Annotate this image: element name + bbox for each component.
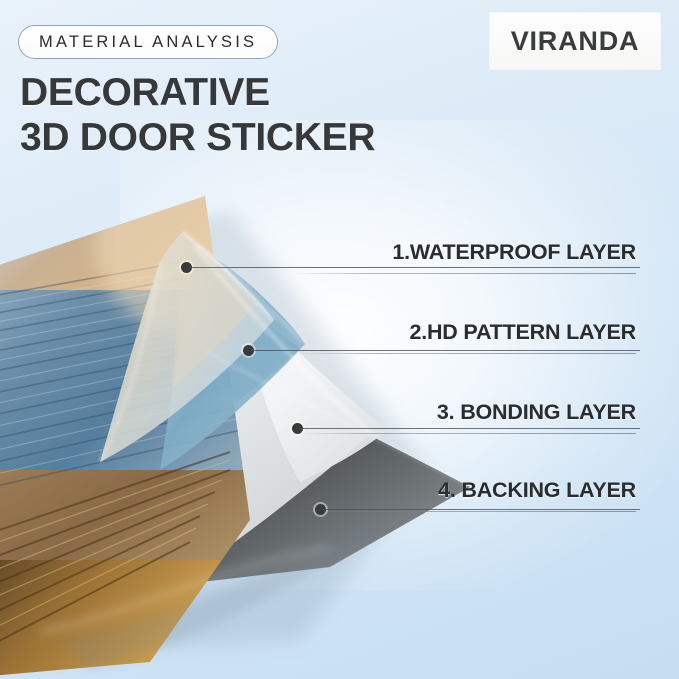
title-line-1: DECORATIVE — [20, 71, 270, 114]
callout-leader-1 — [189, 267, 640, 268]
callout-leader-4 — [323, 509, 640, 510]
callout-rule-4 — [291, 511, 636, 512]
callout-label-3: 3. BONDING LAYER — [437, 400, 636, 425]
callout-leader-2 — [251, 350, 640, 351]
page-title: DECORATIVE 3D DOOR STICKER — [20, 70, 375, 160]
material-analysis-badge: MATERIAL ANALYSIS — [18, 25, 278, 59]
title-line-2: 3D DOOR STICKER — [20, 115, 375, 160]
material-analysis-infographic: MATERIAL ANALYSIS DECORATIVE 3D DOOR STI… — [0, 0, 679, 679]
callout-leader-3 — [300, 428, 640, 429]
callout-label-2: 2.HD PATTERN LAYER — [409, 320, 636, 345]
brand-logo-plate: VIRANDA — [490, 13, 660, 69]
callout-rule-3 — [291, 433, 636, 434]
callout-rule-2 — [291, 353, 636, 354]
callout-label-4: 4. BACKING LAYER — [438, 478, 636, 503]
badge-label: MATERIAL ANALYSIS — [39, 33, 257, 52]
brand-name: VIRANDA — [511, 26, 640, 57]
callout-rule-1 — [291, 273, 636, 274]
callout-label-1: 1.WATERPROOF LAYER — [392, 240, 636, 265]
